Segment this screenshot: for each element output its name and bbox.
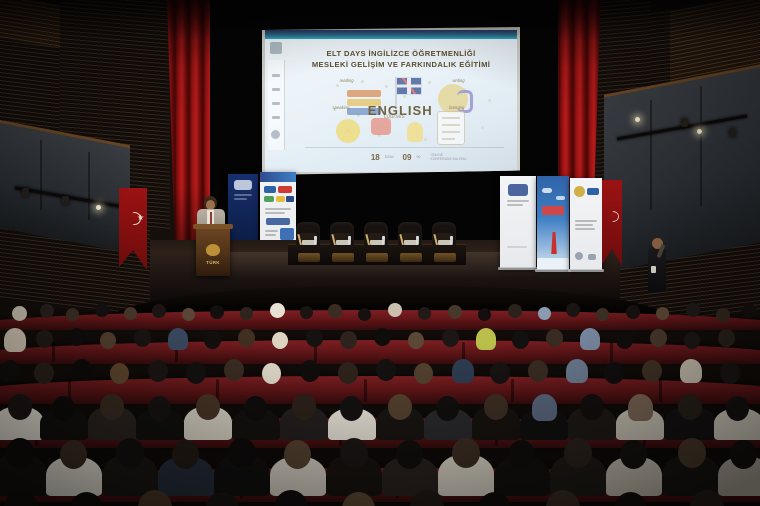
slide-sidebar — [268, 60, 285, 150]
banner-foot-right-1 — [498, 267, 538, 270]
audience-head — [678, 438, 706, 468]
audience-head-scarf — [628, 394, 653, 421]
audience-head — [138, 490, 172, 506]
audience-head — [686, 303, 700, 317]
audience-head — [566, 303, 580, 317]
audience-head — [374, 328, 391, 346]
panel-front-plaque-2 — [332, 253, 354, 262]
graphic-word-2: speaking — [333, 105, 350, 110]
audience-head — [134, 329, 151, 347]
cloud-icon-2 — [556, 196, 565, 200]
left-stage-light-1 — [22, 188, 29, 197]
english-banner-swatch-yellow — [276, 196, 285, 202]
audience-head — [172, 440, 199, 469]
audience-head-scarf — [680, 359, 702, 383]
campaign-flag-graphic — [547, 232, 561, 254]
audience-head — [546, 329, 563, 347]
podium-top-surface — [193, 224, 233, 229]
audience-head — [148, 396, 171, 421]
audience-head — [490, 362, 510, 384]
audience-head-scarf — [580, 328, 600, 350]
audience-head — [186, 362, 206, 384]
audience-head — [626, 305, 640, 319]
projection-screen: ELT DAYS İNGİLİZCE ÖĞRETMENLİĞİ MESLEKİ … — [262, 27, 520, 175]
slide-top-band — [265, 30, 517, 39]
audience-head — [0, 360, 20, 382]
audience-head-scarf — [532, 394, 557, 421]
campaign-logo-icon — [542, 206, 564, 215]
audience-head-scarf — [452, 359, 474, 383]
uk-flag-icon — [396, 77, 422, 95]
audience-head — [72, 359, 92, 381]
english-program-logo-icon — [264, 186, 276, 193]
english-banner-swatch-red — [278, 186, 292, 193]
audience-head-scarf — [476, 328, 496, 350]
audience-head — [224, 359, 244, 381]
audience-head — [376, 359, 396, 381]
audience-head — [620, 440, 647, 469]
audience-head — [726, 396, 749, 421]
graphic-subheading: courses — [384, 114, 405, 120]
slide-graphic: reading writing speaking listening ENGLI… — [325, 75, 501, 143]
banner-english-header — [260, 172, 296, 182]
audience-head — [328, 304, 342, 318]
lightbulb-icon — [407, 122, 423, 142]
banner-foot-right-2 — [535, 269, 571, 272]
audience-head — [95, 303, 109, 317]
audience-head — [206, 492, 239, 506]
english-banner-image — [280, 228, 294, 240]
slide-footer-month: EKİM — [385, 156, 394, 160]
audience-head — [388, 303, 402, 317]
banner-ministry-white — [570, 178, 602, 270]
audience-head — [270, 303, 285, 318]
podium-emblem-icon — [206, 244, 220, 256]
audience-row-5 — [0, 434, 760, 496]
audience-head — [196, 394, 220, 420]
slide-footer-place: ONLINE KONFERANS SALONU — [430, 154, 466, 161]
slide-footer-time: 09 — [403, 153, 412, 162]
audience-head — [388, 394, 412, 420]
audience-head — [272, 332, 288, 349]
audience-head — [110, 363, 129, 384]
english-banner-uk-flag-icon — [286, 196, 294, 202]
audience-head — [204, 331, 221, 349]
graphic-word-3: listening — [449, 105, 464, 110]
slide-footer-place-line2: KONFERANS SALONU — [430, 157, 466, 161]
panel-nameplate-4 — [404, 240, 418, 245]
audience-head — [100, 394, 124, 420]
panel-nameplate-1 — [302, 240, 316, 245]
graphic-word-1: writing — [452, 78, 464, 83]
audience-head — [564, 438, 592, 468]
institution-logo-icon-right — [508, 184, 528, 196]
ministry-logo-icon — [574, 186, 585, 197]
right-stage-light-1 — [729, 128, 736, 137]
audience-head — [442, 329, 459, 347]
audience-head — [228, 438, 256, 468]
slide-footer-time-unit: 00 — [416, 156, 420, 160]
audience-head — [40, 304, 54, 318]
ministry-wordmark — [587, 188, 599, 195]
ministry-footer-logo-2 — [588, 254, 596, 260]
crescent-icon-left — [124, 212, 137, 225]
english-banner-wordmark — [266, 218, 290, 225]
audience-head — [508, 440, 535, 469]
panel-nameplate-2 — [336, 240, 350, 245]
audience-head — [478, 492, 511, 506]
audience-head — [730, 440, 757, 469]
panel-nameplate-3 — [370, 240, 384, 245]
audience-head — [616, 331, 633, 349]
right-stage-light-lit-1 — [635, 117, 640, 122]
audience-head — [580, 394, 604, 420]
banner-foot-right-3 — [568, 269, 604, 272]
audience-area — [0, 292, 760, 506]
podium-label: TÜRK — [196, 260, 230, 265]
audience-head — [484, 394, 508, 420]
slide-title: ELT DAYS İNGİLİZCE ÖĞRETMENLİĞİ MESLEKİ … — [300, 48, 502, 70]
audience-head — [650, 329, 667, 347]
right-balcony — [604, 62, 760, 273]
right-balcony-seam-2 — [650, 100, 652, 210]
audience-head — [342, 492, 375, 506]
audience-head — [292, 394, 316, 420]
audience-head — [642, 360, 662, 382]
audience-head — [396, 440, 423, 469]
banner-institution-white — [500, 176, 536, 268]
audience-head-scarf — [566, 359, 588, 383]
right-stage-light-2 — [681, 118, 688, 127]
slide-corner-logo-icon — [270, 42, 282, 54]
audience-row-6 — [0, 488, 760, 506]
audience-head — [34, 362, 54, 384]
auditorium-photo: ELT DAYS İNGİLİZCE ÖĞRETMENLİĞİ MESLEKİ … — [0, 0, 760, 506]
slide-title-line2: MESLEKİ GELİŞİM VE FARKINDALIK EĞİTİMİ — [300, 59, 502, 70]
left-stage-light-2 — [62, 196, 69, 205]
star-icon-left: ★ — [137, 214, 144, 222]
audience-head — [508, 304, 522, 318]
audience-head — [36, 330, 53, 348]
audience-head — [410, 490, 444, 506]
panel-front-plaque-4 — [400, 253, 422, 262]
panel-front-plaque-3 — [366, 253, 388, 262]
audience-head — [116, 438, 144, 468]
slide-footer-day: 18 — [371, 153, 380, 162]
graphic-word-0: reading — [340, 78, 354, 83]
banner-campaign-sky — [537, 176, 569, 270]
audience-head — [436, 396, 459, 421]
audience-head — [338, 362, 358, 384]
audience-head — [8, 394, 32, 420]
audience-head — [690, 490, 724, 506]
podium: TÜRK — [196, 228, 230, 276]
audience-head — [4, 490, 38, 506]
audience-head — [6, 438, 34, 468]
panel-front-plaque-1 — [298, 253, 320, 262]
left-balcony-seam-2 — [88, 152, 90, 220]
audience-head — [512, 331, 529, 349]
ministry-footer-logo-1 — [575, 252, 583, 260]
audience-head — [152, 304, 166, 318]
audience-head — [340, 331, 357, 349]
institution-logo-icon — [234, 180, 252, 190]
slide-footer: 18 EKİM 09 00 ONLINE KONFERANS SALONU — [305, 147, 504, 168]
audience-head — [284, 440, 311, 469]
audience-head — [742, 304, 756, 318]
left-balcony-seam-1 — [40, 140, 42, 210]
audience-head — [340, 396, 363, 421]
audience-head — [408, 332, 424, 349]
right-stage-light-lit-2 — [697, 129, 702, 134]
audience-head-scarf — [4, 328, 26, 352]
panel-nameplate-5 — [438, 240, 452, 245]
audience-head — [52, 396, 75, 421]
left-stage-light-lit — [96, 205, 101, 210]
audience-head — [414, 363, 433, 384]
emoji-icon — [336, 119, 360, 143]
audience-head — [274, 490, 308, 506]
audience-head — [244, 396, 267, 421]
audience-head-scarf — [168, 328, 188, 350]
right-balcony-seam-1 — [700, 86, 702, 206]
panel-front-plaque-5 — [434, 253, 456, 262]
cloud-icon-1 — [542, 188, 552, 193]
audience-head — [546, 490, 580, 506]
audience-head — [614, 492, 647, 506]
audience-head — [678, 394, 702, 420]
audience-head — [306, 329, 323, 347]
audience-head — [70, 492, 103, 506]
audience-head — [340, 438, 368, 468]
audience-head — [262, 363, 281, 384]
audience-head — [528, 360, 548, 382]
projection-screen-surface: ELT DAYS İNGİLİZCE ÖĞRETMENLİĞİ MESLEKİ … — [265, 30, 517, 172]
audience-head — [68, 328, 85, 346]
audience-head — [238, 329, 255, 347]
clipboard-icon — [437, 111, 465, 145]
audience-head — [448, 305, 462, 319]
slide-title-line1: ELT DAYS İNGİLİZCE ÖĞRETMENLİĞİ — [300, 48, 502, 59]
audience-head — [148, 360, 168, 382]
audience-head — [604, 362, 624, 384]
english-banner-swatch-green — [264, 196, 274, 202]
audience-head — [452, 438, 480, 468]
audience-head — [210, 305, 224, 319]
crescent-icon-right — [605, 211, 615, 221]
standing-attendee-lanyard-badge-icon — [651, 266, 656, 273]
audience-head — [720, 362, 740, 384]
audience-head — [718, 329, 735, 347]
audience-head — [300, 360, 320, 382]
audience-head — [684, 332, 700, 349]
audience-head — [60, 440, 87, 469]
audience-head — [100, 332, 116, 349]
